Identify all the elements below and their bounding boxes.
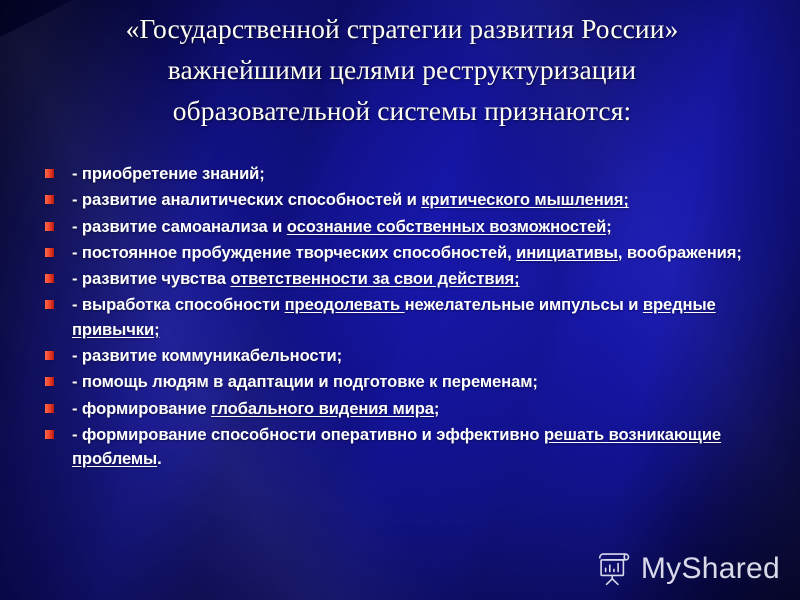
bullet-square-icon (45, 248, 54, 257)
bullet-square-icon (45, 274, 54, 283)
bullet-text-emphasis: ответственности за свои действия; (230, 269, 519, 288)
bullet-text: - приобретение знаний; (72, 164, 265, 183)
bullet-item: - формирование глобального видения мира; (40, 397, 770, 421)
bullet-item: - развитие коммуникабельности; (40, 344, 770, 368)
myshared-watermark: MyShared (594, 552, 780, 586)
bullet-item: - приобретение знаний; (40, 162, 770, 186)
bullet-square-icon (45, 351, 54, 360)
bullet-text: ; (434, 399, 439, 418)
title-line: образовательной системы признаются: (38, 90, 766, 131)
bullet-square-icon (45, 377, 54, 386)
bullet-text-emphasis: критического мышления; (421, 190, 629, 209)
bullet-text: - помощь людям в адаптации и подготовке … (72, 372, 538, 391)
bullet-list: - приобретение знаний;- развитие аналити… (40, 162, 770, 474)
bullet-text: - развитие чувства (72, 269, 230, 288)
bullet-text: - развитие аналитических способностей и (72, 190, 421, 209)
bullet-item: - помощь людям в адаптации и подготовке … (40, 370, 770, 394)
bullet-square-icon (45, 195, 54, 204)
presentation-chart-icon (594, 552, 632, 586)
myshared-brand-text: MyShared (641, 554, 780, 584)
bullet-text: , воображения; (618, 243, 742, 262)
bullet-text-emphasis: осознание собственных возможностей; (287, 217, 612, 236)
bullet-text: - развитие самоанализа и (72, 217, 287, 236)
title-line: «Государственной стратегии развития Росс… (38, 8, 766, 49)
bullet-item: - формирование способности оперативно и … (40, 423, 770, 472)
bullet-text-emphasis: глобального видения мира (211, 399, 434, 418)
bullet-square-icon (45, 222, 54, 231)
bullet-item: - развитие аналитических способностей и … (40, 188, 770, 212)
slide-title: «Государственной стратегии развития Росс… (38, 8, 766, 131)
bullet-item: - развитие чувства ответственности за св… (40, 267, 770, 291)
bullet-item: - выработка способности преодолевать неж… (40, 293, 770, 342)
bullet-text-emphasis: преодолевать (285, 295, 405, 314)
slide-canvas: «Государственной стратегии развития Росс… (0, 0, 800, 600)
bullet-item: - развитие самоанализа и осознание собст… (40, 215, 770, 239)
bullet-text: - постоянное пробуждение творческих спос… (72, 243, 516, 262)
bullet-item: - постоянное пробуждение творческих спос… (40, 241, 770, 265)
bullet-text: - развитие коммуникабельности; (72, 346, 342, 365)
bullet-text: нежелательные импульсы и (405, 295, 643, 314)
bullet-square-icon (45, 404, 54, 413)
bullet-text: - формирование (72, 399, 211, 418)
title-line: важнейшими целями реструктуризации (38, 49, 766, 90)
bullet-text: - формирование способности оперативно и … (72, 425, 544, 444)
bullet-square-icon (45, 169, 54, 178)
bullet-square-icon (45, 430, 54, 439)
bullet-text-emphasis: инициативы (516, 243, 618, 262)
bullet-square-icon (45, 300, 54, 309)
bullet-text: . (157, 449, 162, 468)
bullet-text: - выработка способности (72, 295, 285, 314)
